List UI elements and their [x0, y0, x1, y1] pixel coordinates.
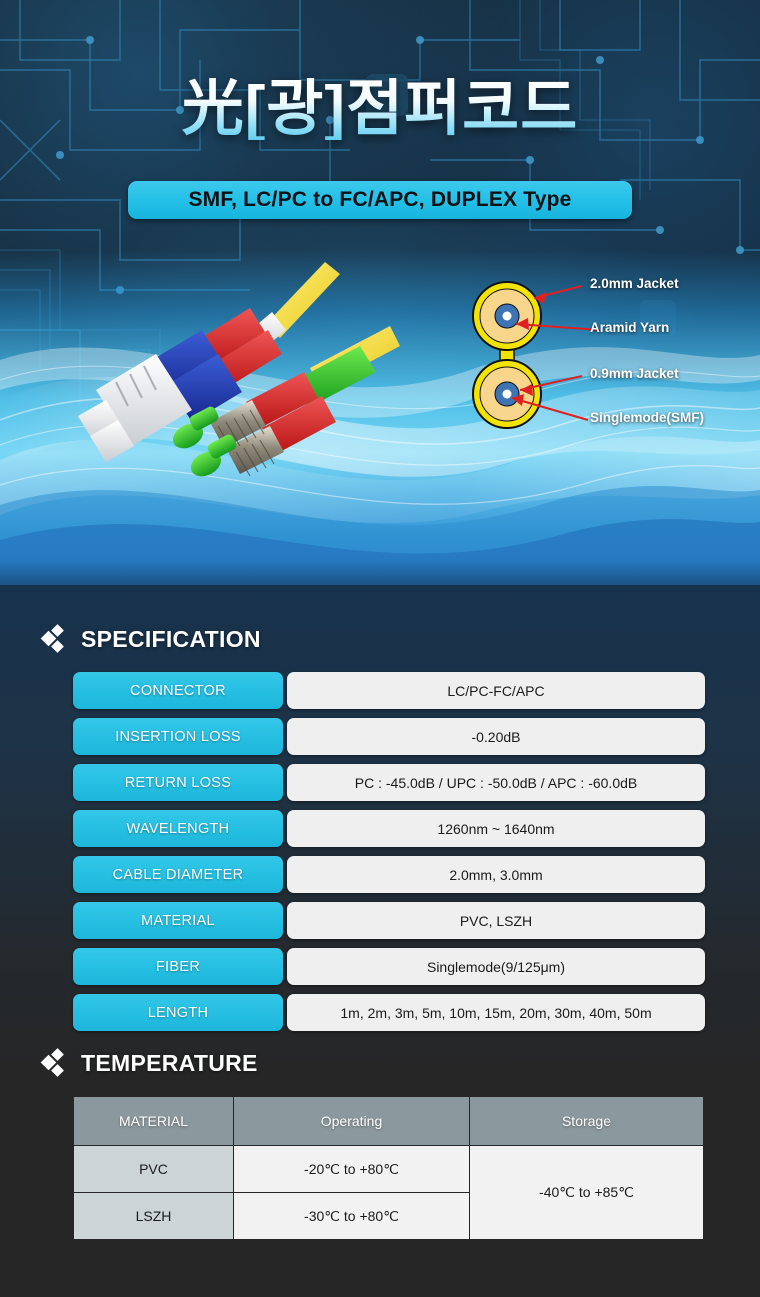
temperature-table: MATERIAL Operating Storage PVC -20℃ to +… — [73, 1096, 704, 1240]
temp-header-operating: Operating — [234, 1097, 470, 1146]
specification-heading: SPECIFICATION — [81, 626, 261, 653]
table-row: LENGTH 1m, 2m, 3m, 5m, 10m, 15m, 20m, 30… — [73, 994, 705, 1031]
spec-value-connector: LC/PC-FC/APC — [287, 672, 705, 709]
table-row: MATERIAL PVC, LSZH — [73, 902, 705, 939]
spec-value-return-loss: PC : -45.0dB / UPC : -50.0dB / APC : -60… — [287, 764, 705, 801]
table-row: FIBER Singlemode(9/125μm) — [73, 948, 705, 985]
spec-value-insertion-loss: -0.20dB — [287, 718, 705, 755]
diagram-label-singlemode: Singlemode(SMF) — [590, 410, 704, 425]
subtitle-banner: SMF, LC/PC to FC/APC, DUPLEX Type — [128, 181, 632, 219]
spec-key-cable-diameter: CABLE DIAMETER — [73, 856, 283, 893]
temp-material-pvc: PVC — [74, 1146, 234, 1193]
fiber-connector-photo — [60, 250, 410, 480]
specification-section-header: SPECIFICATION — [40, 624, 261, 654]
spec-value-material: PVC, LSZH — [287, 902, 705, 939]
diamond-cluster-icon — [40, 1048, 70, 1078]
table-row: CONNECTOR LC/PC-FC/APC — [73, 672, 705, 709]
diagram-label-09mm-jacket: 0.9mm Jacket — [590, 366, 679, 381]
temp-operating-lszh: -30℃ to +80℃ — [234, 1193, 470, 1240]
hero-banner: 光[광]점퍼코드 SMF, LC/PC to FC/APC, DUPLEX Ty… — [0, 0, 760, 600]
table-row: RETURN LOSS PC : -45.0dB / UPC : -50.0dB… — [73, 764, 705, 801]
spec-key-insertion-loss: INSERTION LOSS — [73, 718, 283, 755]
spec-key-fiber: FIBER — [73, 948, 283, 985]
spec-key-return-loss: RETURN LOSS — [73, 764, 283, 801]
table-row: PVC -20℃ to +80℃ -40℃ to +85℃ — [74, 1146, 704, 1193]
spec-value-length: 1m, 2m, 3m, 5m, 10m, 15m, 20m, 30m, 40m,… — [287, 994, 705, 1031]
diamond-cluster-icon — [40, 624, 70, 654]
table-row: INSERTION LOSS -0.20dB — [73, 718, 705, 755]
spec-key-length: LENGTH — [73, 994, 283, 1031]
diagram-label-2mm-jacket: 2.0mm Jacket — [590, 276, 679, 291]
temp-operating-pvc: -20℃ to +80℃ — [234, 1146, 470, 1193]
spec-value-fiber: Singlemode(9/125μm) — [287, 948, 705, 985]
temp-header-storage: Storage — [470, 1097, 704, 1146]
spec-key-connector: CONNECTOR — [73, 672, 283, 709]
temp-storage-value: -40℃ to +85℃ — [470, 1146, 704, 1240]
product-spec-page: 光[광]점퍼코드 SMF, LC/PC to FC/APC, DUPLEX Ty… — [0, 0, 760, 1297]
spec-value-wavelength: 1260nm ~ 1640nm — [287, 810, 705, 847]
cable-cross-section-diagram: 2.0mm Jacket Aramid Yarn 0.9mm Jacket Si… — [430, 258, 730, 458]
spec-key-wavelength: WAVELENGTH — [73, 810, 283, 847]
spec-key-material: MATERIAL — [73, 902, 283, 939]
spec-value-cable-diameter: 2.0mm, 3.0mm — [287, 856, 705, 893]
diagram-label-aramid-yarn: Aramid Yarn — [590, 320, 669, 335]
page-title: 光[광]점퍼코드 — [0, 78, 760, 140]
temperature-heading: TEMPERATURE — [81, 1050, 258, 1077]
temp-header-material: MATERIAL — [74, 1097, 234, 1146]
table-row: CABLE DIAMETER 2.0mm, 3.0mm — [73, 856, 705, 893]
temperature-section-header: TEMPERATURE — [40, 1048, 258, 1078]
table-row: WAVELENGTH 1260nm ~ 1640nm — [73, 810, 705, 847]
specification-table: CONNECTOR LC/PC-FC/APC INSERTION LOSS -0… — [73, 672, 705, 1040]
table-header-row: MATERIAL Operating Storage — [74, 1097, 704, 1146]
temp-material-lszh: LSZH — [74, 1193, 234, 1240]
